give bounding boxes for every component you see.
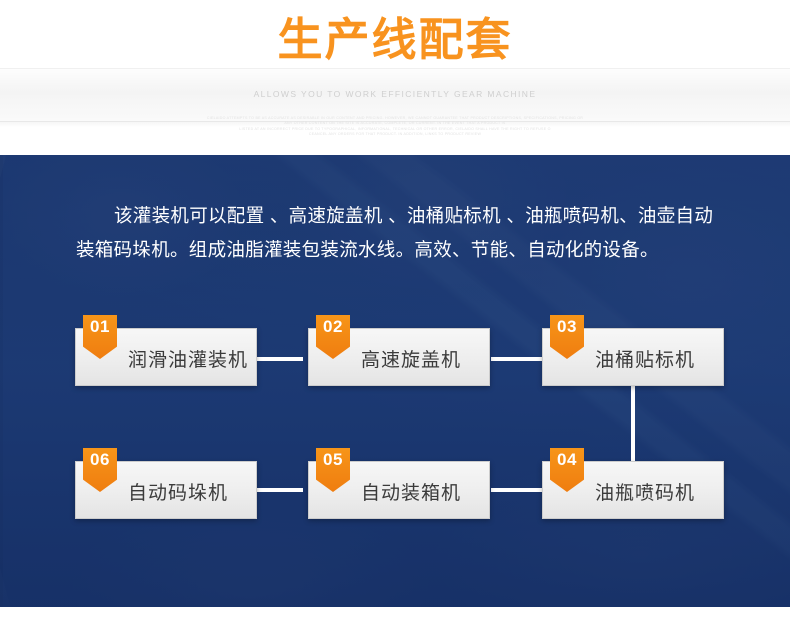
step-number-02: 02 bbox=[316, 317, 350, 337]
step-badge-icon-06: 06 bbox=[83, 448, 117, 492]
flow-node-04[interactable]: 04 油瓶喷码机 bbox=[542, 461, 724, 519]
flow-node-label-03: 油桶贴标机 bbox=[595, 329, 713, 387]
flow-node-05[interactable]: 05 自动装箱机 bbox=[308, 461, 490, 519]
connector-05-to-06 bbox=[257, 488, 303, 492]
flow-node-02[interactable]: 02 高速旋盖机 bbox=[308, 328, 490, 386]
flow-node-label-05: 自动装箱机 bbox=[361, 462, 479, 520]
connector-04-to-05 bbox=[491, 488, 543, 492]
step-number-03: 03 bbox=[550, 317, 584, 337]
flow-node-03[interactable]: 03 油桶贴标机 bbox=[542, 328, 724, 386]
page-footer-spacer bbox=[0, 607, 790, 625]
step-number-04: 04 bbox=[550, 450, 584, 470]
page-title: 生产线配套 bbox=[0, 14, 790, 66]
header-fineprint: CIELAIDO ATTEMPTS TO BE AS ACCURATE AS D… bbox=[0, 116, 790, 138]
blue-content-panel: 该灌装机可以配置 、高速旋盖机 、油桶贴标机 、油瓶喷码机、油壶自动装箱码垛机。… bbox=[0, 155, 790, 607]
step-badge-icon-05: 05 bbox=[316, 448, 350, 492]
step-number-01: 01 bbox=[83, 317, 117, 337]
connector-01-to-02 bbox=[257, 357, 303, 361]
step-badge-icon-03: 03 bbox=[550, 315, 584, 359]
fineprint-line-4: CEANCEL ANY ORDERS FOR THAT PRODUCT. IN … bbox=[0, 132, 790, 137]
flow-diagram: 01 润滑油灌装机 02 高速旋盖机 03 油桶贴标机 04 油瓶喷码机 bbox=[0, 155, 790, 607]
step-badge-icon-01: 01 bbox=[83, 315, 117, 359]
step-number-05: 05 bbox=[316, 450, 350, 470]
flow-node-label-04: 油瓶喷码机 bbox=[595, 462, 713, 520]
step-number-06: 06 bbox=[83, 450, 117, 470]
step-badge-icon-04: 04 bbox=[550, 448, 584, 492]
flow-node-01[interactable]: 01 润滑油灌装机 bbox=[75, 328, 257, 386]
connector-02-to-03 bbox=[491, 357, 543, 361]
step-badge-icon-02: 02 bbox=[316, 315, 350, 359]
flow-node-label-06: 自动码垛机 bbox=[128, 462, 246, 520]
page-header: 生产线配套 ALLOWS YOU TO WORK EFFICIENTLY GEA… bbox=[0, 0, 790, 155]
flow-node-label-02: 高速旋盖机 bbox=[361, 329, 479, 387]
flow-node-label-01: 润滑油灌装机 bbox=[128, 329, 246, 387]
page-subtitle: ALLOWS YOU TO WORK EFFICIENTLY GEAR MACH… bbox=[0, 89, 790, 99]
flow-node-06[interactable]: 06 自动码垛机 bbox=[75, 461, 257, 519]
